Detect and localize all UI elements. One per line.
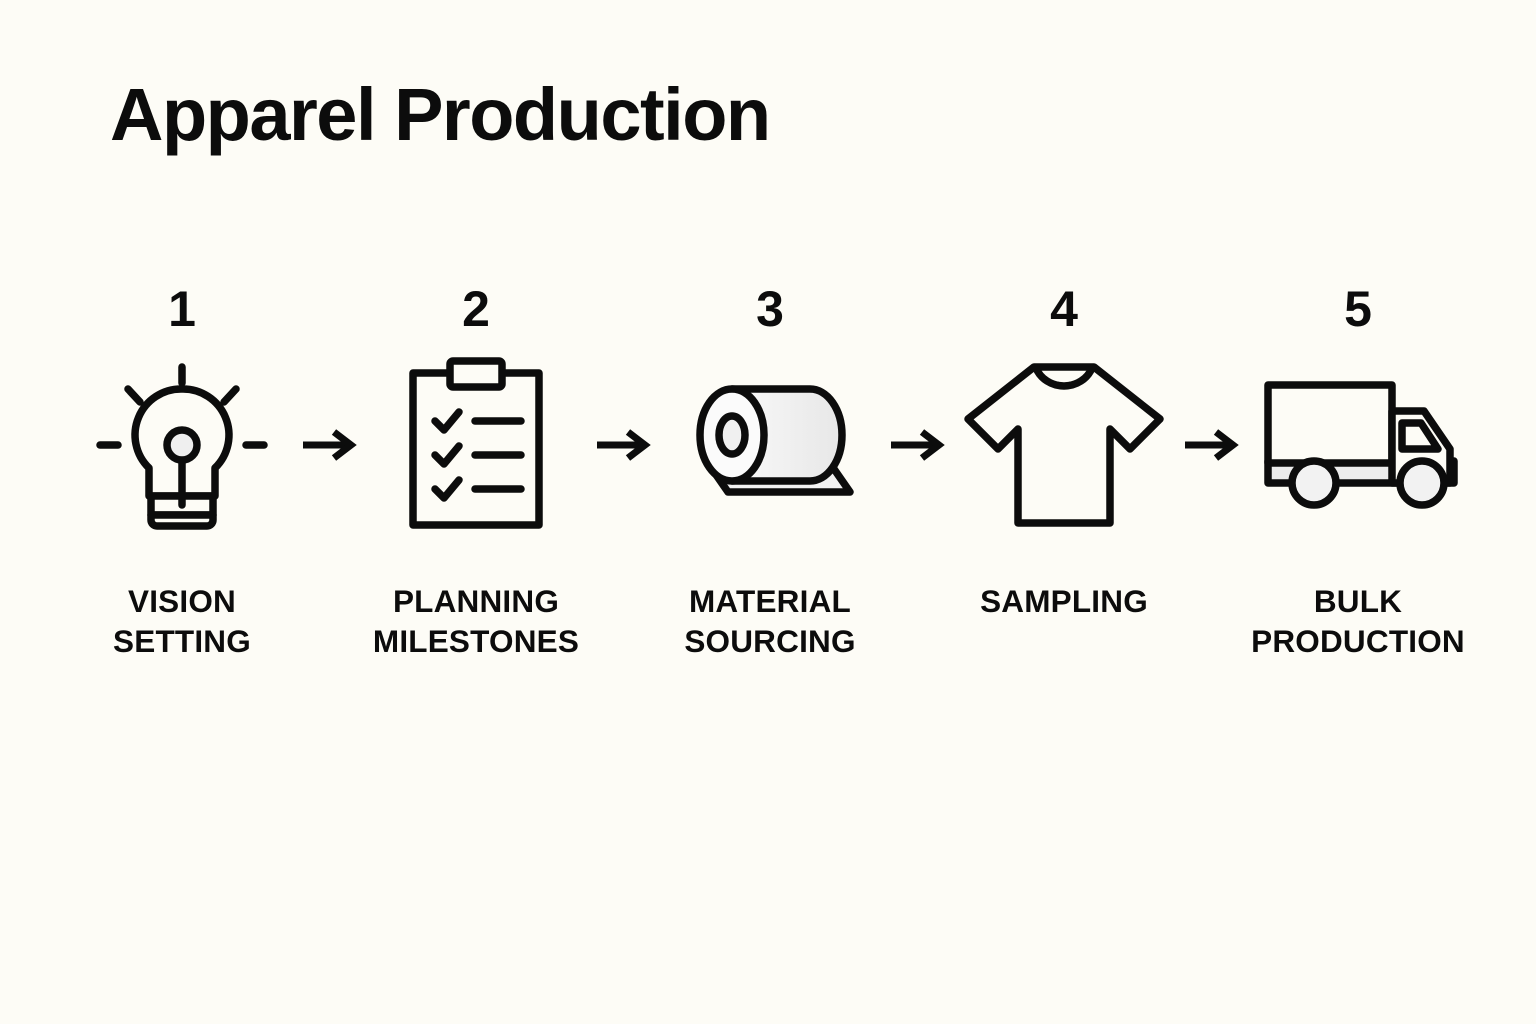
- step-label: SAMPLING: [980, 582, 1148, 622]
- fabric-roll-icon: [665, 350, 875, 540]
- clipboard-checklist-icon: [371, 350, 581, 540]
- arrow-right-icon: [585, 350, 661, 540]
- step-material-sourcing[interactable]: 3: [661, 280, 879, 661]
- step-label: MATERIAL SOURCING: [684, 582, 855, 661]
- step-label: PLANNING MILESTONES: [373, 582, 579, 661]
- step-sampling[interactable]: 4 SAMPLING: [955, 280, 1173, 622]
- step-number: 3: [756, 280, 784, 338]
- step-number: 2: [462, 280, 490, 338]
- diagram-canvas: Apparel Production 1: [0, 0, 1536, 1024]
- step-vision-setting[interactable]: 1: [73, 280, 291, 661]
- process-flow: 1: [60, 280, 1480, 710]
- step-number: 5: [1344, 280, 1372, 338]
- step-number: 4: [1050, 280, 1078, 338]
- tshirt-icon: [959, 350, 1169, 540]
- step-bulk-production[interactable]: 5: [1249, 280, 1467, 661]
- page-title: Apparel Production: [110, 78, 770, 152]
- step-planning-milestones[interactable]: 2: [367, 280, 585, 661]
- arrow-right-icon: [1173, 350, 1249, 540]
- arrow-right-icon: [879, 350, 955, 540]
- step-label: VISION SETTING: [113, 582, 251, 661]
- lightbulb-icon: [77, 350, 287, 540]
- delivery-truck-icon: [1253, 350, 1463, 540]
- step-label: BULK PRODUCTION: [1251, 582, 1465, 661]
- step-number: 1: [168, 280, 196, 338]
- arrow-right-icon: [291, 350, 367, 540]
